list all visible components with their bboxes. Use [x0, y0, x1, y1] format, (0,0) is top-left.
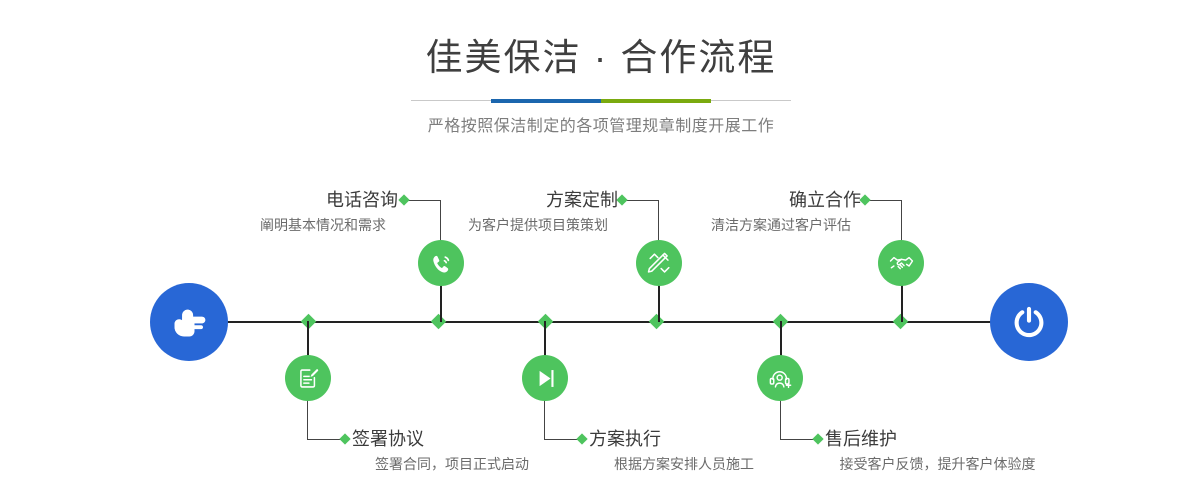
label-step-3: 方案定制 为客户提供项目策策划 — [458, 188, 618, 235]
divider-segment-blue — [491, 99, 601, 103]
node-step-2[interactable] — [285, 355, 331, 401]
leader-h-step-3 — [623, 200, 659, 201]
label-desc-step-4: 根据方案安排人员施工 — [589, 454, 779, 474]
leader-v-step-3 — [658, 200, 659, 245]
leader-h-step-6 — [780, 439, 816, 440]
leader-v-step-6 — [780, 400, 781, 439]
node-step-5[interactable] — [878, 240, 924, 286]
node-step-3[interactable] — [636, 240, 682, 286]
label-desc-step-3: 为客户提供项目策策划 — [458, 215, 618, 235]
pointing-hand-icon — [167, 300, 211, 344]
label-step-5: 确立合作 清洁方案通过客户评估 — [701, 188, 861, 235]
leader-h-step-2 — [307, 439, 343, 440]
label-desc-step-6: 接受客户反馈，提升客户体验度 — [825, 454, 1050, 474]
leader-dot-step-4 — [576, 433, 587, 444]
document-pen-icon — [295, 365, 322, 392]
leader-dot-step-2 — [339, 433, 350, 444]
start-node-pointing-hand[interactable] — [150, 283, 228, 361]
process-flow-infographic: 佳美保洁 · 合作流程 严格按照保洁制定的各项管理规章制度开展工作 — [0, 0, 1202, 502]
leader-v-step-2 — [307, 400, 308, 439]
leader-v-step-5 — [901, 200, 902, 245]
header: 佳美保洁 · 合作流程 严格按照保洁制定的各项管理规章制度开展工作 — [0, 34, 1202, 138]
leader-h-step-1 — [405, 200, 441, 201]
node-step-4[interactable] — [522, 355, 568, 401]
label-desc-step-1: 阐明基本情况和需求 — [248, 215, 398, 235]
label-step-4: 方案执行 根据方案安排人员施工 — [589, 427, 779, 474]
label-title-step-4: 方案执行 — [589, 427, 779, 451]
label-title-step-6: 售后维护 — [825, 427, 1050, 451]
label-desc-step-2: 签署合同，项目正式启动 — [352, 454, 552, 474]
pencil-ruler-icon — [646, 250, 673, 277]
page-subtitle: 严格按照保洁制定的各项管理规章制度开展工作 — [0, 116, 1202, 138]
play-skip-icon — [532, 365, 559, 392]
leader-dot-step-6 — [812, 433, 823, 444]
label-title-step-2: 签署协议 — [352, 427, 552, 451]
page-title: 佳美保洁 · 合作流程 — [0, 34, 1202, 82]
end-node-power-button[interactable] — [990, 283, 1068, 361]
phone-call-icon — [428, 250, 455, 277]
label-title-step-3: 方案定制 — [458, 188, 618, 212]
leader-dot-step-3 — [616, 194, 627, 205]
headset-plus-icon — [767, 365, 794, 392]
label-step-6: 售后维护 接受客户反馈，提升客户体验度 — [825, 427, 1050, 474]
node-step-6[interactable] — [757, 355, 803, 401]
label-title-step-5: 确立合作 — [701, 188, 861, 212]
label-desc-step-5: 清洁方案通过客户评估 — [701, 215, 861, 235]
leader-h-step-4 — [544, 439, 580, 440]
leader-h-step-5 — [866, 200, 902, 201]
axis-marker-4 — [649, 314, 665, 330]
axis-marker-2 — [431, 314, 447, 330]
label-step-1: 电话咨询 阐明基本情况和需求 — [248, 188, 398, 235]
leader-v-step-1 — [440, 200, 441, 245]
power-button-icon — [1007, 300, 1051, 344]
leader-dot-step-5 — [859, 194, 870, 205]
title-divider — [411, 96, 791, 106]
divider-segment-green — [601, 99, 711, 103]
leader-dot-step-1 — [398, 194, 409, 205]
leader-v-step-4 — [544, 400, 545, 439]
handshake-icon — [888, 250, 915, 277]
label-title-step-1: 电话咨询 — [248, 188, 398, 212]
node-step-1[interactable] — [418, 240, 464, 286]
label-step-2: 签署协议 签署合同，项目正式启动 — [352, 427, 552, 474]
